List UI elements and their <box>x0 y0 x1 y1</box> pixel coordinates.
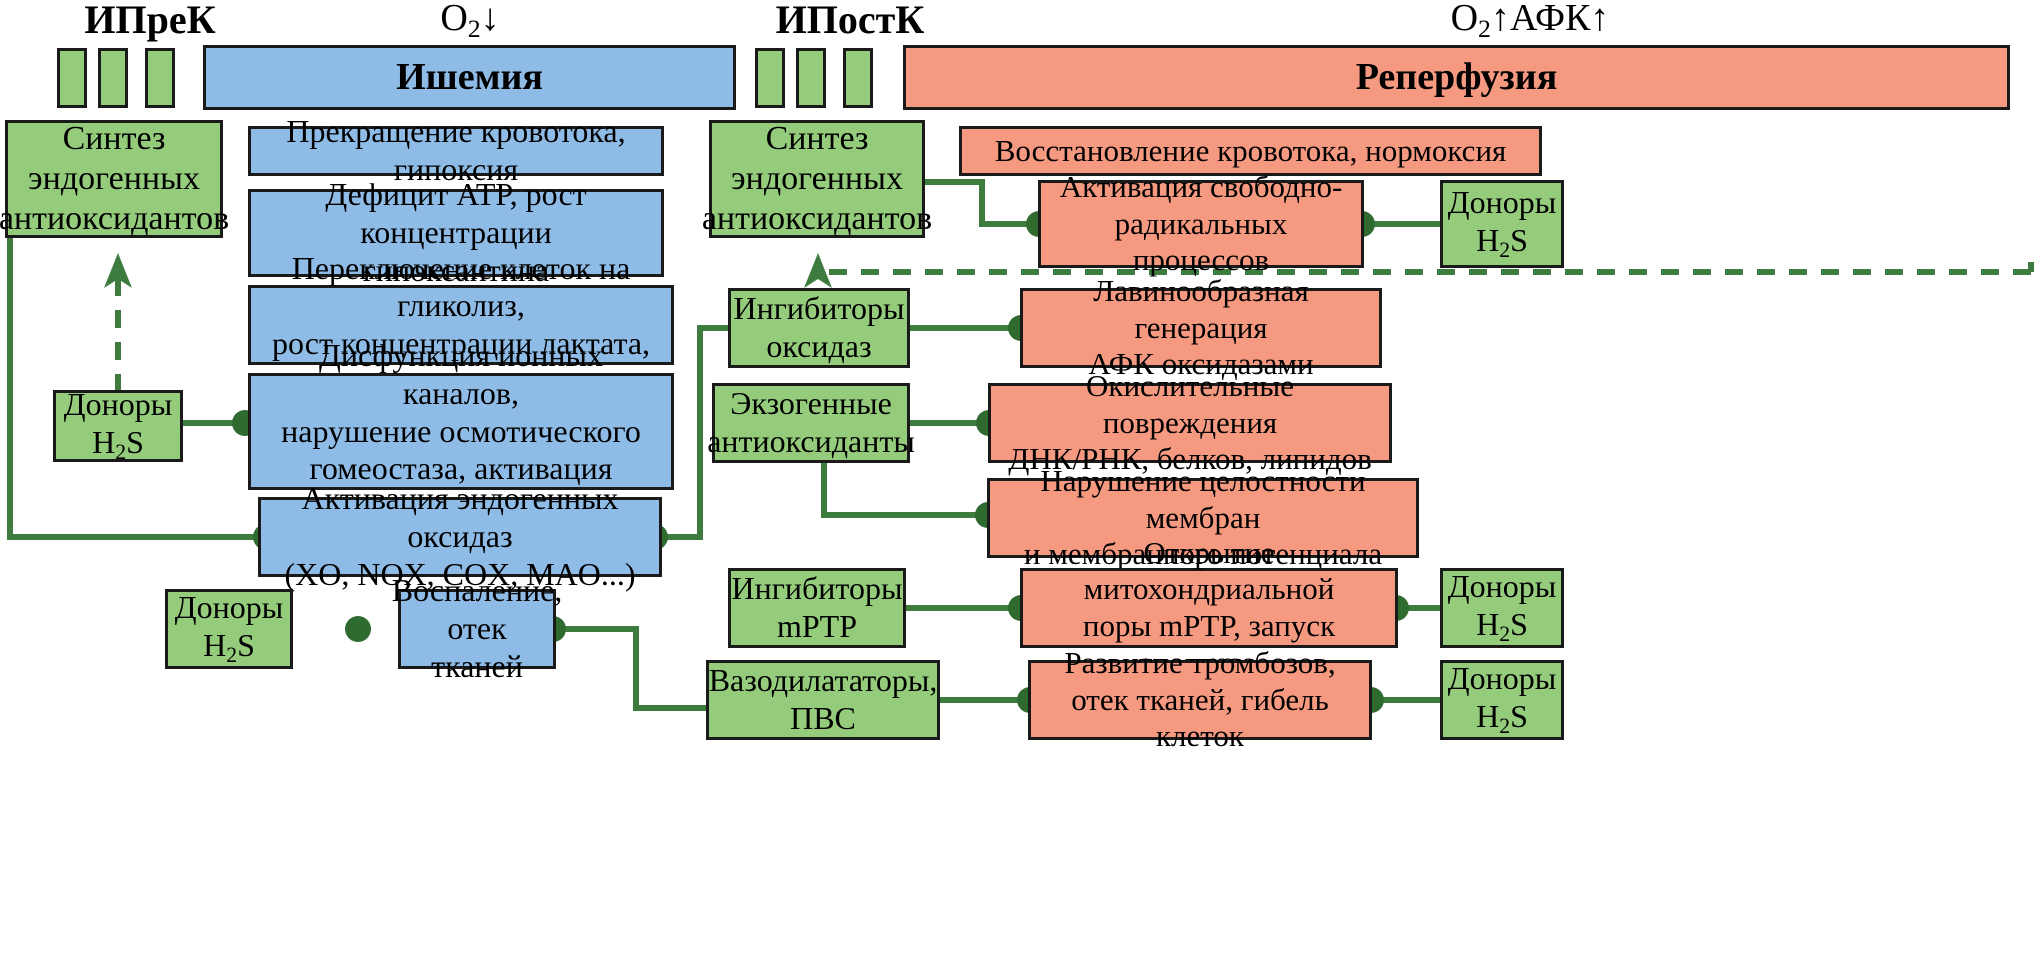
ipost-tick-1 <box>755 48 785 108</box>
donors-thromb-line1: Доноры <box>1448 660 1556 698</box>
oxidase-inhibitors-line2: оксидаз <box>766 328 871 366</box>
donors-infl-line1: Доноры <box>175 589 283 627</box>
wire-exoanti-to-membrane <box>824 455 985 515</box>
wire-rsynthesis-to-freeradical <box>925 182 1038 224</box>
blood-flow-restoration-text: Восстановление кровотока, нормоксия <box>995 133 1507 170</box>
box-endogenous-oxidase-activation[interactable]: Активация эндогенных оксидаз (XO, NOX, C… <box>258 497 662 577</box>
band-reperfusion: Реперфузия <box>903 45 2010 110</box>
box-afk-avalanche[interactable]: Лавинообразная генерация АФК оксидазами <box>1020 288 1382 368</box>
arrowhead-right-synthesis <box>804 253 832 288</box>
exogenous-antioxidants-line2: антиоксиданты <box>707 423 915 461</box>
donors-left-line2: H2S <box>92 424 144 466</box>
mptp-inhibitors-line1: Ингибиторы <box>732 570 903 608</box>
right-synthesis-line1: Синтез <box>766 119 869 159</box>
box-mptp-inhibitors[interactable]: Ингибиторы mPTP <box>728 568 906 648</box>
vasodilators-line2: ПВС <box>790 700 856 738</box>
header-o2-down: O2↓ <box>380 0 560 44</box>
ipost-tick-3 <box>843 48 873 108</box>
box-donors-h2s-left[interactable]: Доноры H2S <box>53 390 183 462</box>
left-synthesis-line2: эндогенных <box>28 159 200 199</box>
box-donors-h2s-thrombosis[interactable]: Доноры H2S <box>1440 660 1564 740</box>
mptp-opening-line1: Открытие митохондриальной <box>1031 535 1387 608</box>
exogenous-antioxidants-line1: Экзогенные <box>730 385 892 423</box>
donors-mptp-line1: Доноры <box>1448 568 1556 606</box>
box-ion-channel-dysfunction[interactable]: Дисфункция ионных каналов, нарушение осм… <box>248 373 674 490</box>
right-synthesis-line3: антиоксидантов <box>702 199 932 239</box>
box-exogenous-antioxidants[interactable]: Экзогенные антиоксиданты <box>712 383 910 463</box>
ipre-tick-1 <box>57 48 87 108</box>
left-synthesis-line3: антиоксидантов <box>0 199 229 239</box>
ion-dysfunction-line1: Дисфункция ионных каналов, <box>259 337 663 413</box>
right-synthesis-line2: эндогенных <box>731 159 903 199</box>
header-ipost-k: ИПостК <box>745 0 955 43</box>
box-oxidase-inhibitors[interactable]: Ингибиторы оксидаз <box>728 288 910 368</box>
donors-mptp-line2: H2S <box>1476 606 1528 648</box>
box-thrombosis-development[interactable]: Развитие тромбозов, отек тканей, гибель … <box>1028 660 1372 740</box>
inflammation-line2: отек тканей <box>409 610 545 686</box>
diagram-canvas: ИПреК O2↓ ИПостК O2↑АФК↑ Ишемия Реперфуз… <box>0 0 2043 974</box>
box-vasodilators[interactable]: Вазодилататоры, ПВС <box>706 660 940 740</box>
ipre-tick-2 <box>98 48 128 108</box>
ipost-tick-2 <box>796 48 826 108</box>
box-mptp-opening[interactable]: Открытие митохондриальной поры mPTP, зап… <box>1020 568 1398 648</box>
box-donors-h2s-inflammation[interactable]: Доноры H2S <box>165 589 293 669</box>
box-right-synthesis[interactable]: Синтез эндогенных антиоксидантов <box>709 120 925 238</box>
donors-thromb-line2: H2S <box>1476 698 1528 740</box>
donors-left-line1: Доноры <box>64 386 172 424</box>
header-o2-up-afk-up: O2↑АФК↑ <box>1375 0 1685 44</box>
mptp-inhibitors-line2: mPTP <box>777 608 857 646</box>
header-ipre-k: ИПреК <box>60 0 240 43</box>
box-left-synthesis[interactable]: Синтез эндогенных антиоксидантов <box>5 120 223 238</box>
donors-freerad-line1: Доноры <box>1448 184 1556 222</box>
box-stop-blood-flow[interactable]: Прекращение кровотока, гипоксия <box>248 126 664 176</box>
box-free-radical-activation[interactable]: Активация свободно- радикальных процессо… <box>1038 180 1364 268</box>
thrombosis-line1: Развитие тромбозов, <box>1064 645 1335 682</box>
left-synthesis-line1: Синтез <box>63 119 166 159</box>
free-radical-line1: Активация свободно- <box>1060 169 1343 206</box>
oxidase-inhibitors-line1: Ингибиторы <box>734 290 905 328</box>
vasodilators-line1: Вазодилататоры, <box>709 662 938 700</box>
donors-freerad-line2: H2S <box>1476 222 1528 264</box>
oxidase-activation-line1: Активация эндогенных оксидаз <box>269 480 651 556</box>
ipre-tick-3 <box>145 48 175 108</box>
box-donors-h2s-mptp[interactable]: Доноры H2S <box>1440 568 1564 648</box>
oxidative-damage-line1: Окислительные повреждения <box>999 368 1381 441</box>
membrane-loss-line1: Нарушение целостности мембран <box>998 463 1408 536</box>
wire-inflammation-to-vasodilators <box>556 629 706 708</box>
atp-deficit-line1: Дефицит ATP, рост концентрации <box>259 176 653 252</box>
donors-infl-line2: H2S <box>203 627 255 669</box>
afk-avalanche-line1: Лавинообразная генерация <box>1031 273 1371 346</box>
arrowhead-left-synthesis <box>104 253 132 288</box>
thrombosis-line2: отек тканей, гибель клеток <box>1039 682 1361 755</box>
box-donors-h2s-free-radical[interactable]: Доноры H2S <box>1440 180 1564 268</box>
box-oxidative-damage[interactable]: Окислительные повреждения ДНК/РНК, белко… <box>988 383 1392 463</box>
inflammation-line1: Воспаление, <box>392 572 563 610</box>
glycolysis-line1: Переключение клеток на гликолиз, <box>259 250 663 326</box>
ion-dysfunction-line2: нарушение осмотического <box>281 413 641 451</box>
box-inflammation-edema[interactable]: Воспаление, отек тканей <box>398 589 556 669</box>
band-ischemia: Ишемия <box>203 45 736 110</box>
free-radical-line2: радикальных процессов <box>1049 206 1353 279</box>
node-dot-inflammation-left <box>345 616 371 642</box>
